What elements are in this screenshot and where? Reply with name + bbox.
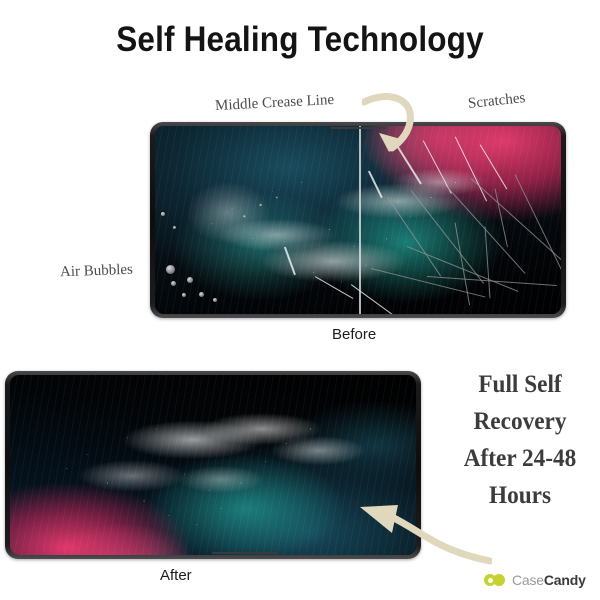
label-air-bubbles: Air Bubbles xyxy=(60,262,133,282)
label-middle-crease-line: Middle Crease Line xyxy=(215,92,335,115)
bottom-speaker-grill xyxy=(212,552,278,554)
logo-wordmark: CaseCandy xyxy=(512,572,586,588)
page-title: Self Healing Technology xyxy=(30,20,570,60)
before-wallpaper-particles xyxy=(155,126,561,314)
air-bubble xyxy=(213,298,217,302)
caption-after: After xyxy=(160,567,192,584)
poster-canvas: Self Healing Technology xyxy=(0,0,600,600)
earpiece-speaker xyxy=(330,127,386,129)
middle-crease-line xyxy=(359,126,361,314)
logo-word-case: Case xyxy=(512,572,544,588)
before-phone-screen xyxy=(155,126,561,314)
caption-before: Before xyxy=(332,326,376,343)
headline-line-4: Hours xyxy=(446,477,595,514)
air-bubble xyxy=(182,293,186,297)
logo-word-candy: Candy xyxy=(544,572,586,588)
headline-line-1: Full Self xyxy=(446,366,595,403)
after-phone xyxy=(5,371,421,559)
casecandy-logo[interactable]: CaseCandy xyxy=(484,572,586,588)
air-bubble xyxy=(166,265,175,274)
after-phone-screen xyxy=(10,375,416,555)
headline-line-2: Recovery xyxy=(446,403,595,440)
recovery-headline: Full Self Recovery After 24-48 Hours xyxy=(440,366,600,514)
air-bubble xyxy=(173,226,176,229)
air-bubble xyxy=(187,277,193,283)
air-bubble xyxy=(171,281,176,286)
label-scratches: Scratches xyxy=(467,90,526,113)
air-bubble xyxy=(199,292,204,297)
before-phone xyxy=(150,122,566,318)
after-wallpaper-particles xyxy=(10,375,416,555)
casecandy-circles-mark-icon xyxy=(484,574,506,586)
air-bubble xyxy=(161,212,165,216)
headline-line-3: After 24-48 xyxy=(446,440,595,477)
